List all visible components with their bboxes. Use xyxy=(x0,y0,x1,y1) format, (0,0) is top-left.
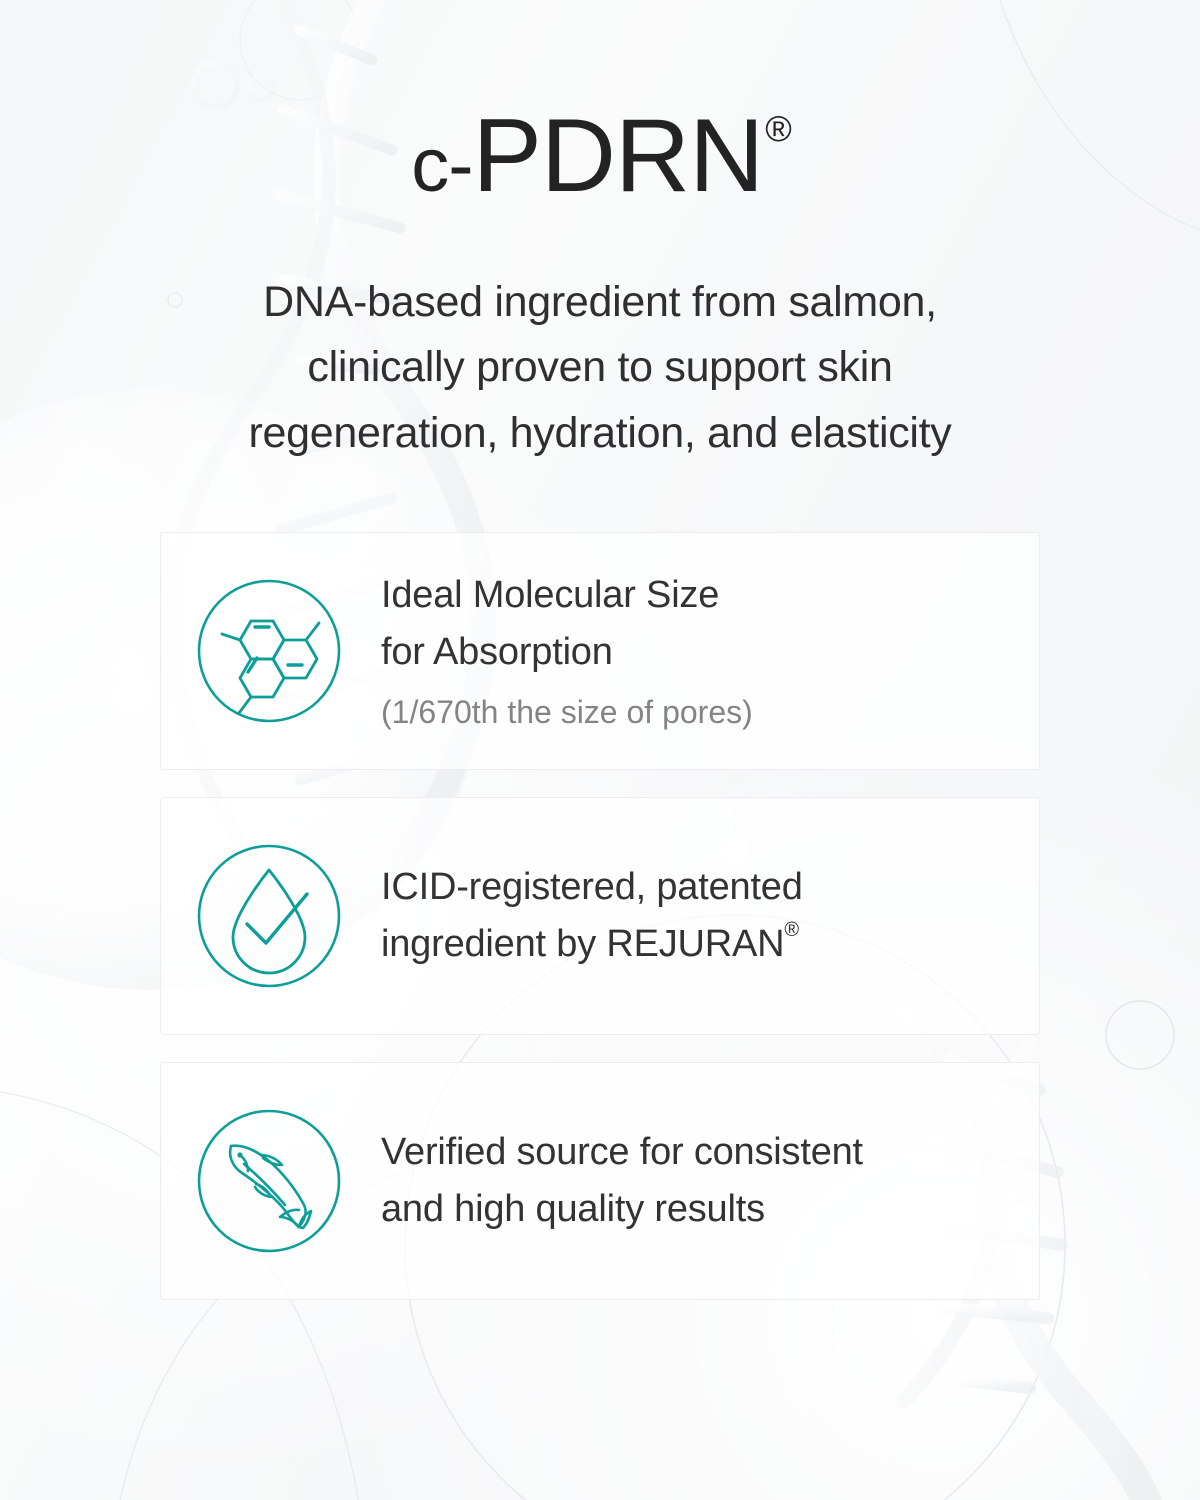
feature-card-text: Ideal Molecular Size for Absorption (1/6… xyxy=(343,567,753,735)
feature-card-text: Verified source for consistent and high … xyxy=(343,1124,863,1238)
molecule-icon xyxy=(195,577,343,725)
fish-icon xyxy=(195,1107,343,1255)
feature-title-line-2: for Absorption xyxy=(381,631,613,673)
brand-separator: - xyxy=(448,123,472,208)
registered-trademark-icon: ® xyxy=(765,108,791,149)
brand-prefix: c xyxy=(411,123,448,208)
feature-card-molecular-size: Ideal Molecular Size for Absorption (1/6… xyxy=(160,532,1040,770)
feature-title-line-1: Verified source for consistent xyxy=(381,1131,863,1173)
subtitle-line-3: regeneration, hydration, and elasticity xyxy=(0,401,1200,466)
feature-title-line-2: ingredient by REJURAN xyxy=(381,923,784,965)
feature-card-text: ICID-registered, patented ingredient by … xyxy=(343,859,803,973)
subtitle-line-2: clinically proven to support skin xyxy=(0,335,1200,400)
feature-card-subtext: (1/670th the size of pores) xyxy=(381,689,753,735)
brand-name: PDRN xyxy=(473,98,764,214)
feature-card-list: Ideal Molecular Size for Absorption (1/6… xyxy=(160,466,1040,1300)
feature-card-verified-source: Verified source for consistent and high … xyxy=(160,1062,1040,1300)
droplet-check-icon xyxy=(195,842,343,990)
feature-title-line-2: and high quality results xyxy=(381,1188,765,1230)
feature-card-icid-registered: ICID-registered, patented ingredient by … xyxy=(160,797,1040,1035)
subtitle: DNA-based ingredient from salmon, clinic… xyxy=(0,270,1200,466)
feature-title-line-1: ICID-registered, patented xyxy=(381,866,803,908)
feature-card-title: ICID-registered, patented ingredient by … xyxy=(381,859,803,973)
registered-trademark-icon: ® xyxy=(784,919,799,941)
page-title: c-PDRN® xyxy=(0,104,1200,208)
subtitle-line-1: DNA-based ingredient from salmon, xyxy=(0,270,1200,335)
feature-title-line-1: Ideal Molecular Size xyxy=(381,574,719,616)
feature-card-title: Ideal Molecular Size for Absorption xyxy=(381,567,753,681)
header: c-PDRN® DNA-based ingredient from salmon… xyxy=(0,0,1200,466)
feature-card-title: Verified source for consistent and high … xyxy=(381,1124,863,1238)
